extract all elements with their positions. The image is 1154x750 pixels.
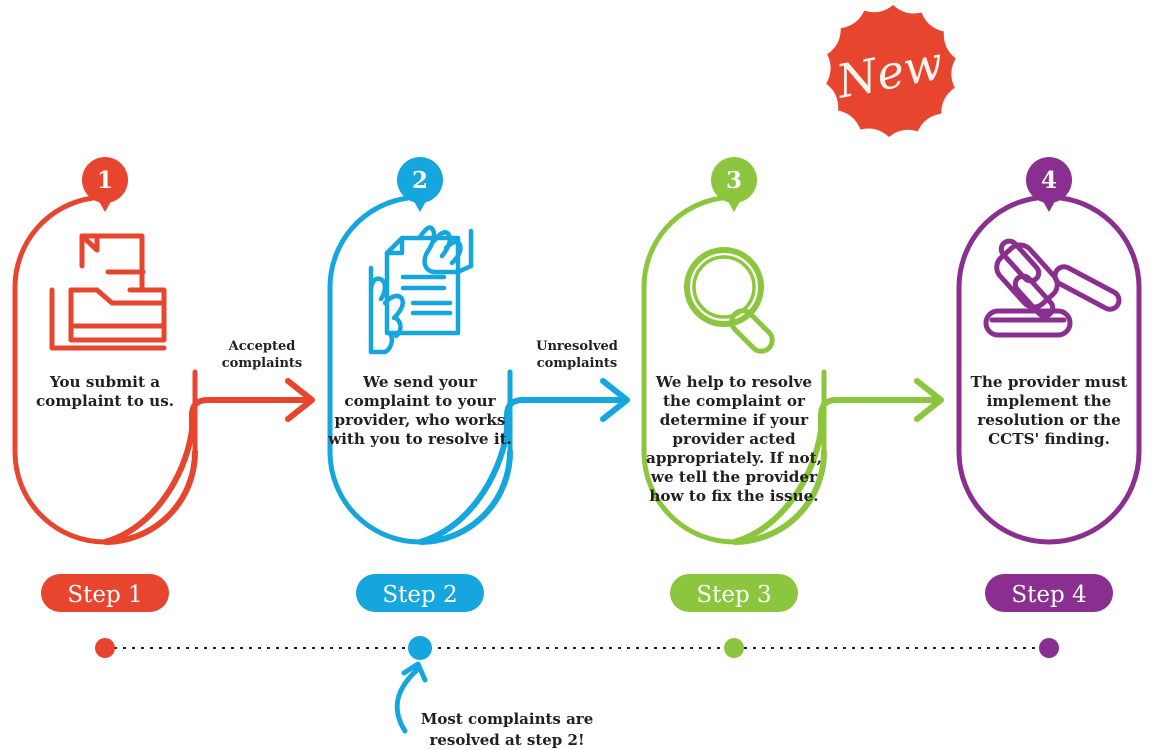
step-4-body-line-2: resolution or the [977,411,1121,429]
timeline [95,636,1059,660]
step-1-pin[interactable]: 1 [82,157,128,212]
step-2-body-line-3: with you to resolve it. [327,430,512,448]
step-4-pin[interactable]: 4 [1026,157,1072,212]
step-2-pill-label: Step 2 [382,582,457,608]
step-2-body-line-0: We send your [362,373,478,391]
step-4-pill-label: Step 4 [1011,582,1086,608]
timeline-dot-step-3[interactable] [724,638,744,658]
connector-1-label-line-1: complaints [222,356,303,371]
connector-label-unresolved-complaints: Unresolved complaints [536,339,618,371]
step-3-body-line-3: provider acted [672,430,796,448]
magnifying-glass-icon [687,250,777,356]
step-3-body-line-1: the complaint or [663,392,806,410]
infographic-canvas: 1 You submit a complaint to us. Step 1 [0,0,1154,750]
infographic-svg: 1 You submit a complaint to us. Step 1 [0,0,1154,750]
step-2-body-line-1: complaint to your [344,392,496,410]
timeline-dot-step-2[interactable] [408,636,432,660]
step-1-body-line-0: You submit a [49,373,160,391]
step-4-capsule [959,198,1139,542]
step-3-group[interactable]: 3 We help to resolve the complaint or de… [644,157,941,612]
step-3-pill[interactable]: Step 3 [670,574,798,612]
step-4-pill[interactable]: Step 4 [985,574,1113,612]
step-4-body-line-0: The provider must [971,373,1128,391]
callout-curved-arrow [397,670,417,731]
step-4-group[interactable]: 4 The provider must implement the resolu… [959,157,1139,612]
connector-label-accepted-complaints: Accepted complaints [222,339,303,371]
step-3-pill-label: Step 3 [696,582,771,608]
connector-2-label-line-0: Unresolved [536,339,618,354]
step-3-body-line-2: determine if your [660,411,809,429]
step-1-group[interactable]: 1 You submit a complaint to us. Step 1 [15,157,312,612]
timeline-dot-step-4[interactable] [1039,638,1059,658]
step-3-body-line-5: we tell the provider [650,468,818,486]
step-4-body-line-3: CCTS' finding. [988,430,1110,448]
step-1-pill[interactable]: Step 1 [41,574,169,612]
step-2-body-line-2: provider, who works [335,411,506,429]
step-3-body-line-0: We help to resolve [655,373,812,391]
step-2-number: 2 [412,167,428,194]
step-3-pin[interactable]: 3 [711,157,757,212]
callout-line-1: resolved at step 2! [429,731,584,749]
connector-2-label-line-1: complaints [537,356,618,371]
step-1-number: 1 [97,167,113,194]
connector-1-label-line-0: Accepted [228,339,296,354]
step-3-body-line-4: appropriately. If not, [646,449,822,467]
step-2-pin[interactable]: 2 [397,157,443,212]
callout-line-0: Most complaints are [421,710,594,728]
inbox-tray-document-icon [52,236,164,348]
step-3-number: 3 [726,167,742,194]
callout-most-complaints: Most complaints are resolved at step 2! [397,664,593,749]
new-badge[interactable]: New [826,5,956,137]
step-4-number: 4 [1041,167,1057,194]
gavel-icon [986,238,1122,335]
step-2-group[interactable]: 2 [327,157,627,612]
step-4-body-line-1: implement the [987,392,1112,410]
step-1-pill-label: Step 1 [67,582,142,608]
step-2-pill[interactable]: Step 2 [356,574,484,612]
step-1-body-line-1: complaint to us. [36,392,174,410]
hands-exchanging-document-icon [371,228,471,352]
timeline-dot-step-1[interactable] [95,638,115,658]
connector-1-to-2-line [105,400,305,542]
step-3-body-line-6: how to fix the issue. [649,487,818,505]
